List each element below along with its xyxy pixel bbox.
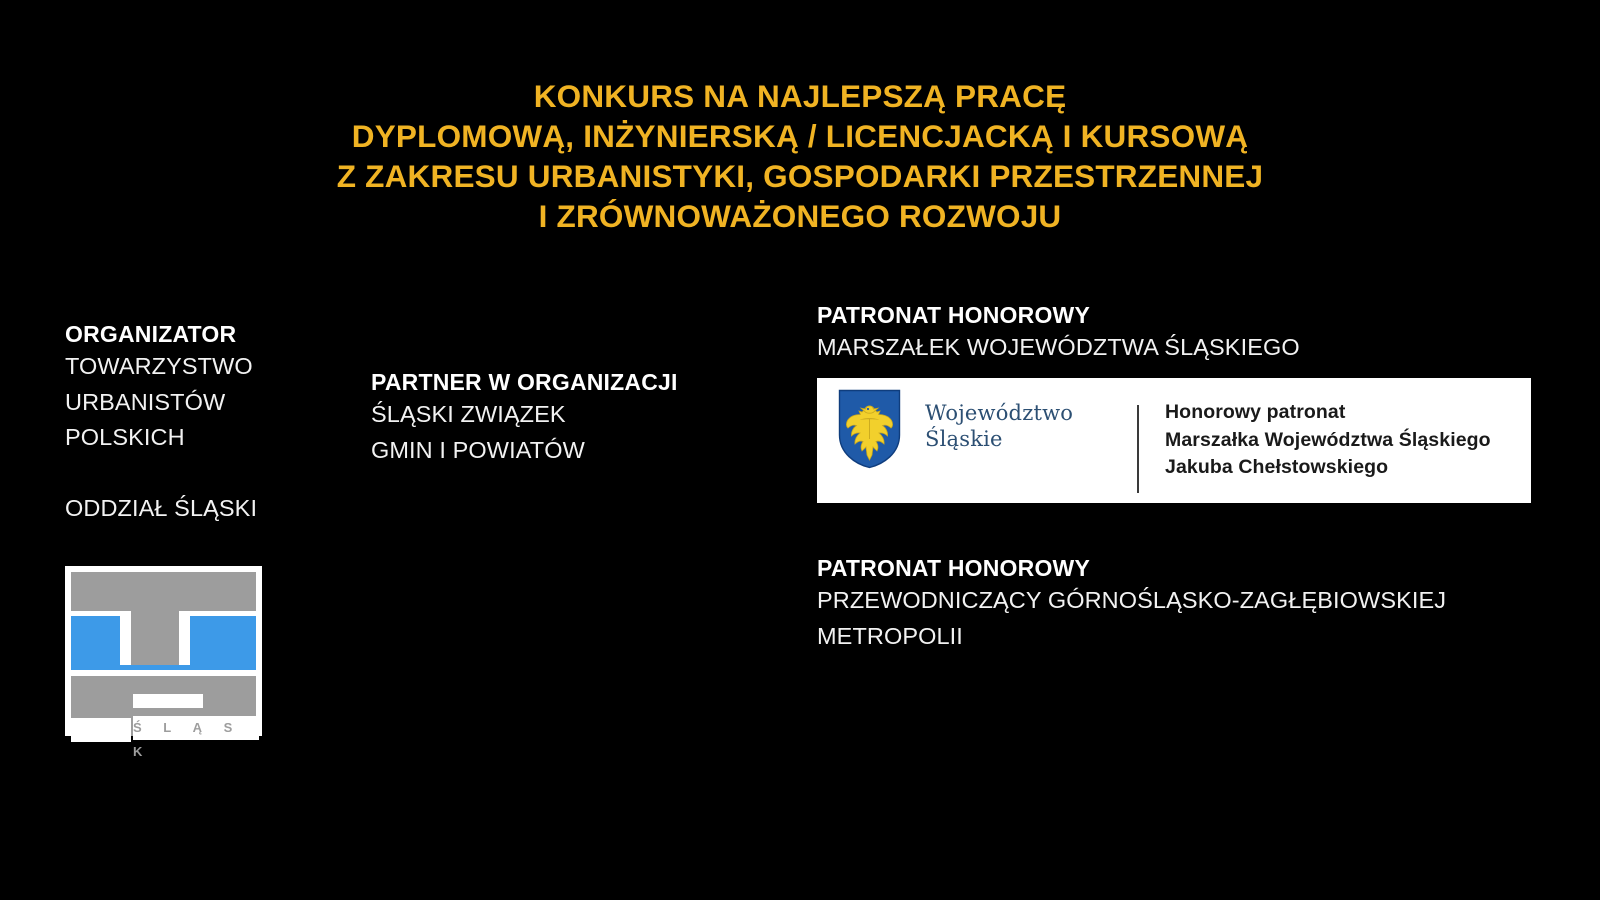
patronage-2-line-2: METROPOLII <box>817 619 1446 655</box>
patronage-2-block: PATRONAT HONOROWY PRZEWODNICZĄCY GÓRNOŚL… <box>817 553 1446 654</box>
organizer-line-2: URBANISTÓW <box>65 385 257 421</box>
title-line-1: KONKURS NA NAJLEPSZĄ PRACĘ <box>0 76 1600 116</box>
patronage-1-line-1: MARSZAŁEK WOJEWÓDZTWA ŚLĄSKIEGO <box>817 330 1300 366</box>
slide-root: KONKURS NA NAJLEPSZĄ PRACĘ DYPLOMOWĄ, IN… <box>0 0 1600 900</box>
banner-brand-line-2: Śląskie <box>925 426 1073 452</box>
banner-brand-line-1: Województwo <box>925 400 1073 426</box>
title-line-2: DYPLOMOWĄ, INŻYNIERSKĄ / LICENCJACKĄ I K… <box>0 116 1600 156</box>
organizer-branch: ODDZIAŁ ŚLĄSKI <box>65 491 257 527</box>
title-line-4: I ZRÓWNOWAŻONEGO ROZWOJU <box>0 196 1600 236</box>
page-title: KONKURS NA NAJLEPSZĄ PRACĘ DYPLOMOWĄ, IN… <box>0 76 1600 236</box>
banner-patronage-line-1: Honorowy patronat <box>1165 399 1491 427</box>
partner-line-2: GMIN I POWIATÓW <box>371 433 678 469</box>
logo-top-bar <box>71 572 256 611</box>
logo-wordmark: Ś L Ą S K <box>133 716 259 740</box>
banner-brand-text: Województwo Śląskie <box>925 400 1073 452</box>
logo-bottom-slot <box>133 694 203 708</box>
banner-patronage-line-2: Marszałka Województwa Śląskiego <box>1165 427 1491 455</box>
tup-logo-graphic: Ś L Ą S K <box>71 572 256 736</box>
partner-line-1: ŚLĄSKI ZWIĄZEK <box>371 397 678 433</box>
logo-grey-stem <box>131 611 179 665</box>
silesian-eagle-coat-of-arms-icon <box>838 389 901 469</box>
banner-patronage-text: Honorowy patronat Marszałka Województwa … <box>1165 399 1491 482</box>
banner-patronage-line-3: Jakuba Chełstowskiego <box>1165 454 1491 482</box>
patronage-1-block: PATRONAT HONOROWY MARSZAŁEK WOJEWÓDZTWA … <box>817 300 1300 366</box>
organizer-block: ORGANIZATOR TOWARZYSTWO URBANISTÓW POLSK… <box>65 319 257 526</box>
organizer-heading: ORGANIZATOR <box>65 319 257 349</box>
organizer-spacer <box>65 456 257 491</box>
banner-vertical-divider <box>1137 405 1139 493</box>
organizer-line-1: TOWARZYSTWO <box>65 349 257 385</box>
tup-slask-logo: Ś L Ą S K <box>65 566 262 736</box>
logo-bottom-notch <box>71 718 131 742</box>
patronage-1-heading: PATRONAT HONOROWY <box>817 300 1300 330</box>
partner-heading: PARTNER W ORGANIZACJI <box>371 367 678 397</box>
patronage-2-line-1: PRZEWODNICZĄCY GÓRNOŚLĄSKO-ZAGŁĘBIOWSKIE… <box>817 583 1446 619</box>
title-line-3: Z ZAKRESU URBANISTYKI, GOSPODARKI PRZEST… <box>0 156 1600 196</box>
wojewodztwo-slaskie-banner: Województwo Śląskie Honorowy patronat Ma… <box>817 378 1531 503</box>
partner-block: PARTNER W ORGANIZACJI ŚLĄSKI ZWIĄZEK GMI… <box>371 367 678 468</box>
patronage-2-heading: PATRONAT HONOROWY <box>817 553 1446 583</box>
organizer-line-3: POLSKICH <box>65 420 257 456</box>
